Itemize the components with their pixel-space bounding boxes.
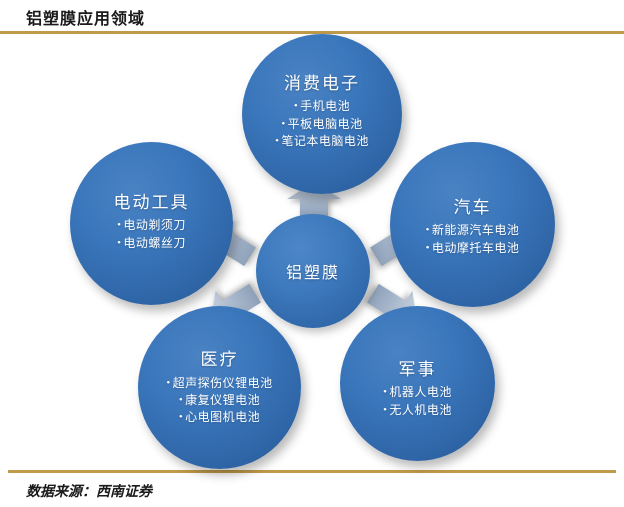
node-item-list: 新能源汽车电池 电动摩托车电池 <box>416 222 530 257</box>
list-item: 电动摩托车电池 <box>426 240 520 257</box>
node-center-hub[interactable]: 铝塑膜 <box>256 214 370 328</box>
node-item-list: 电动剃须刀 电动螺丝刀 <box>107 217 196 252</box>
list-item: 电动剃须刀 <box>117 217 186 234</box>
list-item: 新能源汽车电池 <box>426 222 520 239</box>
node-consumer-electronics[interactable]: 消费电子 手机电池 平板电脑电池 笔记本电脑电池 <box>242 34 402 194</box>
node-title: 电动工具 <box>114 193 190 213</box>
list-item: 无人机电池 <box>383 402 452 419</box>
list-item: 康复仪锂电池 <box>166 392 272 409</box>
list-item: 机器人电池 <box>383 384 452 401</box>
page-title: 铝塑膜应用领域 <box>26 5 145 29</box>
node-title: 医疗 <box>201 350 239 370</box>
list-item: 超声探伤仪锂电池 <box>166 375 272 392</box>
list-item: 笔记本电脑电池 <box>275 133 369 150</box>
node-power-tools[interactable]: 电动工具 电动剃须刀 电动螺丝刀 <box>70 142 233 305</box>
node-title: 铝塑膜 <box>286 259 340 283</box>
node-title: 消费电子 <box>284 74 360 94</box>
footer-divider <box>8 470 616 473</box>
node-military[interactable]: 军事 机器人电池 无人机电池 <box>340 306 495 461</box>
diagram-canvas: 消费电子 手机电池 平板电脑电池 笔记本电脑电池 汽车 新能源汽车电池 电动摩托… <box>0 34 624 466</box>
node-item-list: 超声探伤仪锂电池 康复仪锂电池 心电图机电池 <box>156 375 282 427</box>
list-item: 平板电脑电池 <box>275 116 369 133</box>
node-item-list: 手机电池 平板电脑电池 笔记本电脑电池 <box>265 98 379 150</box>
node-item-list: 机器人电池 无人机电池 <box>373 384 462 419</box>
list-item: 电动螺丝刀 <box>117 235 186 252</box>
node-title: 汽车 <box>454 198 492 218</box>
data-source-label: 数据来源：西南证券 <box>26 481 152 501</box>
list-item: 手机电池 <box>275 98 369 115</box>
list-item: 心电图机电池 <box>166 409 272 426</box>
node-title: 军事 <box>399 360 437 380</box>
node-automotive[interactable]: 汽车 新能源汽车电池 电动摩托车电池 <box>390 142 555 307</box>
node-medical[interactable]: 医疗 超声探伤仪锂电池 康复仪锂电池 心电图机电池 <box>138 306 301 469</box>
